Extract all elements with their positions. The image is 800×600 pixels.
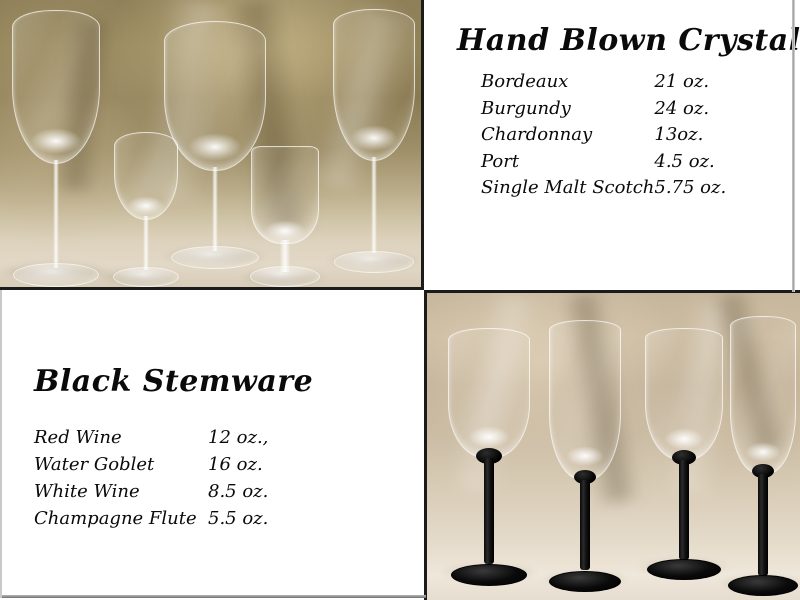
- panel-black-stemware: Black Stemware Red Wine 12 oz., Water Go…: [0, 290, 424, 600]
- spec-size: 8.5 oz.: [208, 478, 268, 505]
- spec-name: Red Wine: [34, 424, 208, 451]
- glass-stem: [758, 474, 768, 576]
- spec-name: Champagne Flute: [34, 505, 208, 532]
- scan-edge-bottom: [0, 595, 426, 598]
- heading-black-stemware: Black Stemware: [34, 363, 313, 401]
- glass-stem: [54, 160, 59, 268]
- table-row: Bordeaux 21 oz.: [481, 69, 726, 96]
- spec-name: Single Malt Scotch: [481, 175, 654, 202]
- glass-stem: [213, 167, 218, 251]
- glass-red-wine: [441, 328, 537, 586]
- spec-name: White Wine: [34, 478, 208, 505]
- glass-foot: [13, 263, 99, 287]
- glass-bowl: [730, 316, 796, 474]
- spec-name: Burgundy: [481, 96, 654, 123]
- spec-table-crystal: Bordeaux 21 oz. Burgundy 24 oz. Chardonn…: [481, 69, 726, 202]
- spec-name: Port: [481, 149, 654, 176]
- spec-size: 24 oz.: [654, 96, 726, 123]
- spec-size: 21 oz.: [654, 69, 726, 96]
- glass-stem: [679, 460, 689, 560]
- spec-name: Water Goblet: [34, 451, 208, 478]
- table-row: Single Malt Scotch 5.75 oz.: [481, 175, 726, 202]
- glass-chardonnay: [328, 9, 420, 273]
- glass-stem: [580, 480, 590, 570]
- glass-single-malt-scotch: [243, 146, 327, 287]
- glass-stem: [484, 458, 494, 564]
- glass-foot: [647, 559, 721, 580]
- catalog-page: Hand Blown Crystal Bordeaux 21 oz. Burgu…: [0, 0, 800, 600]
- scan-edge-right: [792, 0, 795, 292]
- heading-hand-blown-crystal: Hand Blown Crystal: [457, 22, 800, 60]
- table-row: Chardonnay 13oz.: [481, 122, 726, 149]
- glass-bowl: [333, 9, 415, 161]
- spec-size: 4.5 oz.: [654, 149, 726, 176]
- table-row: Water Goblet 16 oz.: [34, 451, 268, 478]
- glass-stem: [372, 157, 377, 253]
- spec-size: 12 oz.,: [208, 424, 268, 451]
- table-row: Champagne Flute 5.5 oz.: [34, 505, 268, 532]
- glass-champagne-flute: [541, 320, 629, 592]
- scan-edge-left: [0, 290, 2, 598]
- glass-stem: [144, 216, 149, 270]
- table-row: White Wine 8.5 oz.: [34, 478, 268, 505]
- glass-bowl: [12, 10, 100, 164]
- spec-name: Bordeaux: [481, 69, 654, 96]
- glass-water-goblet: [639, 328, 729, 580]
- glass-white-wine: [721, 316, 800, 596]
- table-row: Red Wine 12 oz.,: [34, 424, 268, 451]
- spec-size: 5.75 oz.: [654, 175, 726, 202]
- photo-black-stemware: [424, 290, 800, 600]
- glass-bowl: [645, 328, 723, 460]
- photo-hand-blown-crystal: [0, 0, 424, 290]
- glass-foot: [451, 564, 527, 586]
- spec-size: 16 oz.: [208, 451, 268, 478]
- spec-size: 13oz.: [654, 122, 726, 149]
- spec-name: Chardonnay: [481, 122, 654, 149]
- glass-bordeaux: [10, 10, 102, 287]
- spec-size: 5.5 oz.: [208, 505, 268, 532]
- table-row: Burgundy 24 oz.: [481, 96, 726, 123]
- glass-bowl: [251, 146, 319, 244]
- glass-bowl: [549, 320, 621, 480]
- glass-foot: [113, 267, 179, 287]
- spec-table-stemware: Red Wine 12 oz., Water Goblet 16 oz. Whi…: [34, 424, 268, 532]
- table-row: Port 4.5 oz.: [481, 149, 726, 176]
- glass-foot: [728, 575, 798, 596]
- glass-bowl: [448, 328, 530, 458]
- glass-foot: [549, 571, 621, 592]
- panel-hand-blown-crystal: Hand Blown Crystal Bordeaux 21 oz. Burgu…: [424, 0, 800, 290]
- glass-foot: [250, 266, 320, 287]
- glass-foot: [334, 251, 414, 273]
